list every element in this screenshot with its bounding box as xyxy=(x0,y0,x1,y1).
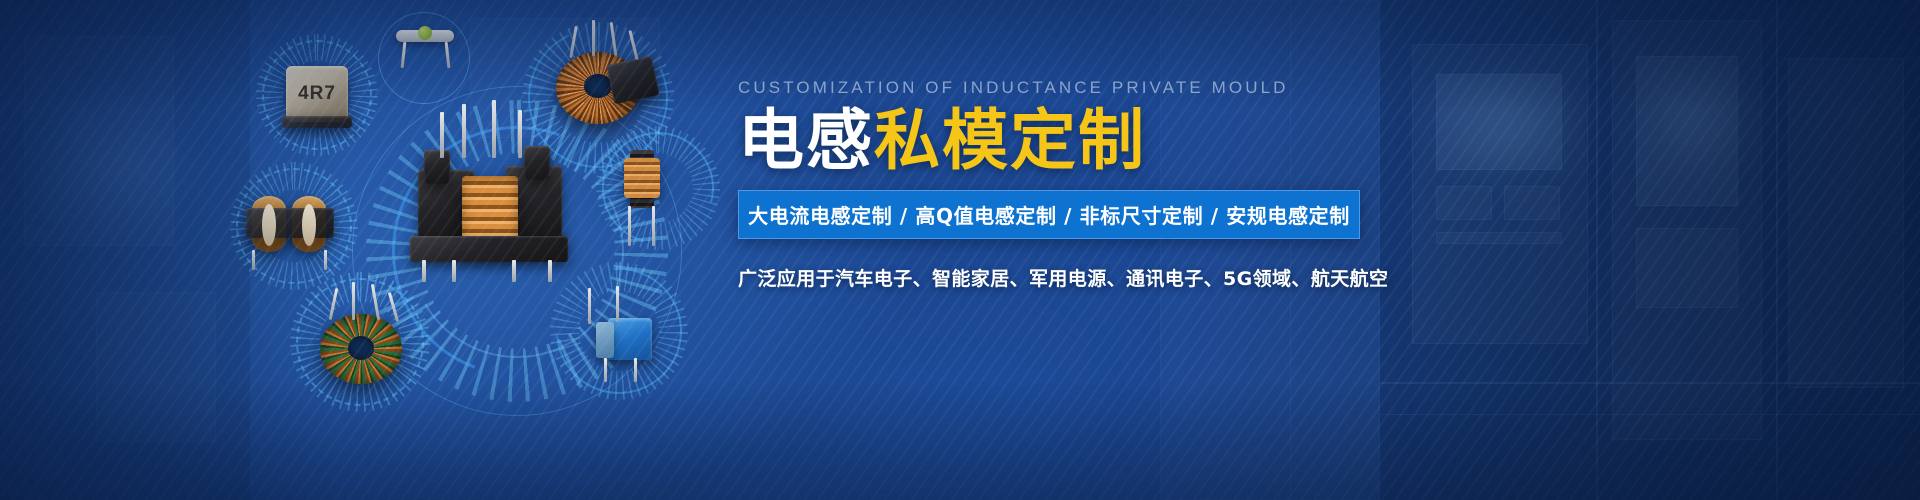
headline-part-gold: 私模定制 xyxy=(874,102,1146,179)
banner-tagline-applications: 广泛应用于汽车电子、智能家居、军用电源、通讯电子、5G领域、航天航空 xyxy=(738,264,1418,291)
feature-list-bar[interactable]: 大电流电感定制 / 高Q值电感定制 / 非标尺寸定制 / 安规电感定制 xyxy=(738,190,1360,239)
feature-list-text: 大电流电感定制 / 高Q值电感定制 / 非标尺寸定制 / 安规电感定制 xyxy=(748,200,1350,229)
promo-banner: 4R7 xyxy=(0,0,1920,500)
banner-eyebrow-english: CUSTOMIZATION OF INDUCTANCE PRIVATE MOUL… xyxy=(738,78,1418,98)
banner-headline: 电感私模定制 xyxy=(738,106,1418,176)
banner-text-content: CUSTOMIZATION OF INDUCTANCE PRIVATE MOUL… xyxy=(738,78,1418,291)
chip-label: 4R7 xyxy=(286,66,348,122)
headline-part-white: 电感 xyxy=(738,102,874,179)
